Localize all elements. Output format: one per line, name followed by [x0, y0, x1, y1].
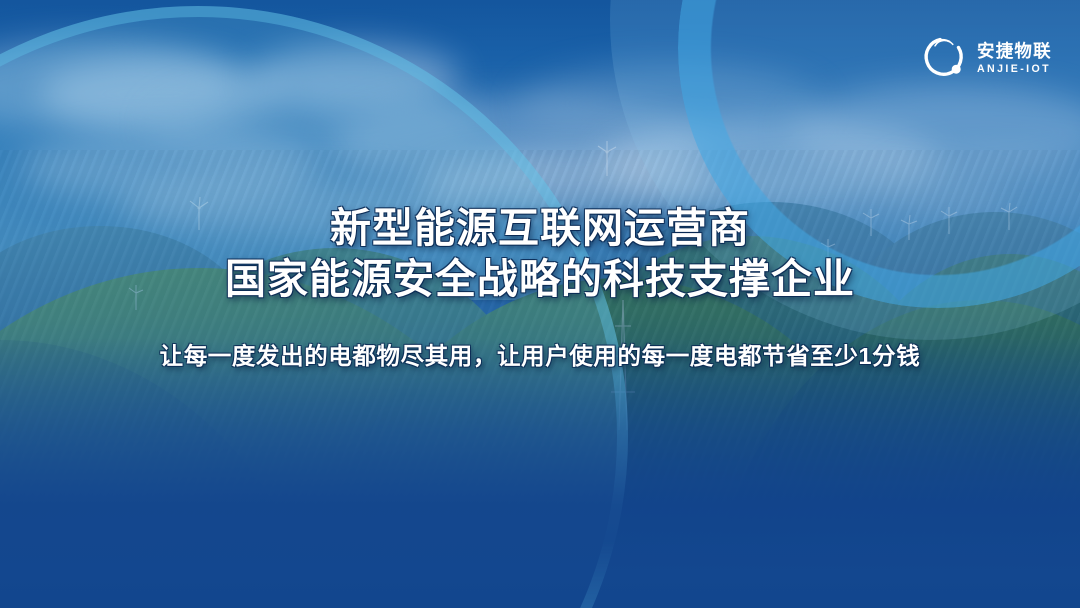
anjie-iot-ring-logo-icon: [918, 34, 968, 86]
brand-name-cn: 安捷物联: [977, 43, 1052, 61]
brand-logo-text: 安捷物联 ANJIE-IOT: [977, 43, 1052, 77]
brand-name-en: ANJIE-IOT: [977, 64, 1052, 75]
presentation-slide: 安捷物联 ANJIE-IOT 新型能源互联网运营商 国家能源安全战略的科技支撑企…: [0, 0, 1080, 608]
brand-logo[interactable]: 安捷物联 ANJIE-IOT: [918, 34, 1052, 86]
